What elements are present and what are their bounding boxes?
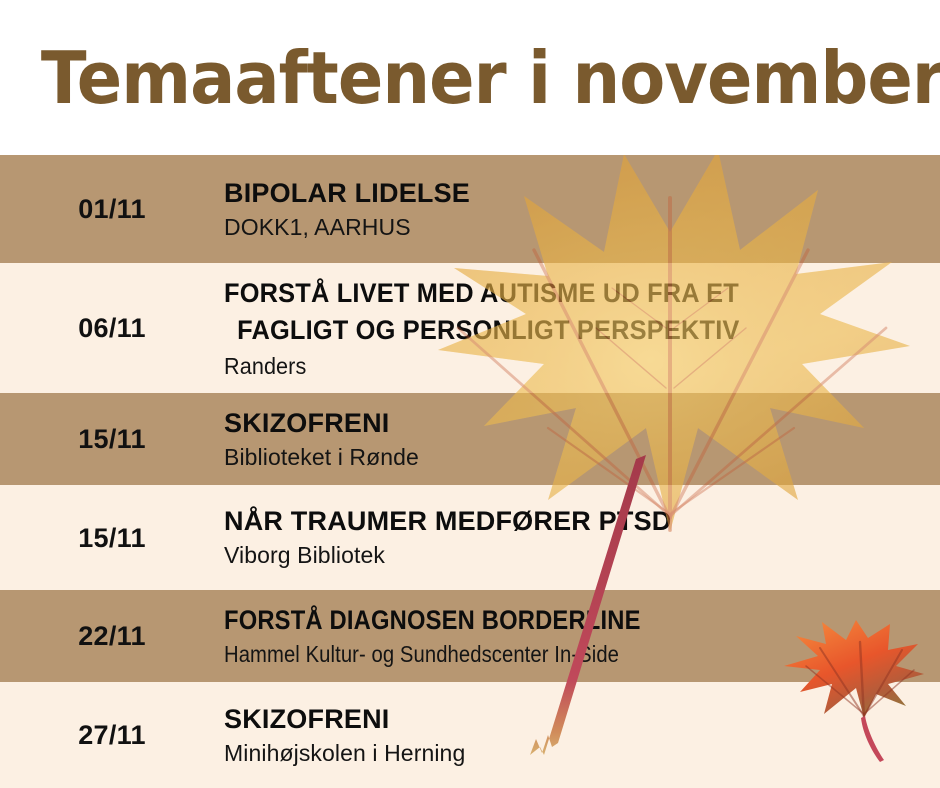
event-date: 15/11 (0, 523, 224, 553)
event-title: SKIZOFRENI (224, 407, 926, 440)
event-list: 01/11 BIPOLAR LIDELSE DOKK1, AARHUS 06/1… (0, 155, 940, 788)
event-title: FORSTÅ DIAGNOSEN BORDERLINE (224, 604, 842, 637)
poster: Temaaftener i november 01/11 BIPOLAR LID… (0, 0, 940, 788)
event-title: SKIZOFRENI (224, 703, 926, 736)
event-row-2[interactable]: 06/11 FORSTÅ LIVET MED AUTISME UD FRA ET… (0, 263, 940, 393)
event-venue: Biblioteket i Rønde (224, 442, 926, 472)
event-body: SKIZOFRENI Minihøjskolen i Herning (224, 703, 940, 768)
event-body: FORSTÅ LIVET MED AUTISME UD FRA ET FAGLI… (224, 275, 940, 381)
event-date: 27/11 (0, 720, 224, 750)
event-date: 06/11 (0, 313, 224, 343)
event-venue: Minihøjskolen i Herning (224, 738, 926, 768)
event-row-3[interactable]: 15/11 SKIZOFRENI Biblioteket i Rønde (0, 393, 940, 485)
event-body: SKIZOFRENI Biblioteket i Rønde (224, 407, 940, 472)
event-row-4[interactable]: 15/11 NÅR TRAUMER MEDFØRER PTSD Viborg B… (0, 485, 940, 590)
event-venue: DOKK1, AARHUS (224, 212, 926, 242)
event-title: NÅR TRAUMER MEDFØRER PTSD (224, 505, 926, 538)
event-body: NÅR TRAUMER MEDFØRER PTSD Viborg Bibliot… (224, 505, 940, 570)
event-title: BIPOLAR LIDELSE (224, 177, 926, 210)
event-venue: Viborg Bibliotek (224, 540, 926, 570)
event-row-6[interactable]: 27/11 SKIZOFRENI Minihøjskolen i Herning (0, 682, 940, 788)
event-venue: Randers (224, 351, 884, 381)
page-title: Temaaftener i november (0, 39, 940, 117)
event-body: BIPOLAR LIDELSE DOKK1, AARHUS (224, 177, 940, 242)
event-date: 22/11 (0, 621, 224, 651)
event-row-1[interactable]: 01/11 BIPOLAR LIDELSE DOKK1, AARHUS (0, 155, 940, 263)
event-date: 01/11 (0, 194, 224, 224)
event-row-5[interactable]: 22/11 FORSTÅ DIAGNOSEN BORDERLINE Hammel… (0, 590, 940, 682)
event-date: 15/11 (0, 424, 224, 454)
event-body: FORSTÅ DIAGNOSEN BORDERLINE Hammel Kultu… (224, 604, 940, 669)
event-venue: Hammel Kultur- og Sundhedscenter In-Side (224, 639, 842, 669)
title-area: Temaaftener i november (0, 0, 940, 155)
event-title: FORSTÅ LIVET MED AUTISME UD FRA ET (224, 275, 884, 312)
event-title-line2: FAGLIGT OG PERSONLIGT PERSPEKTIV (224, 312, 884, 349)
